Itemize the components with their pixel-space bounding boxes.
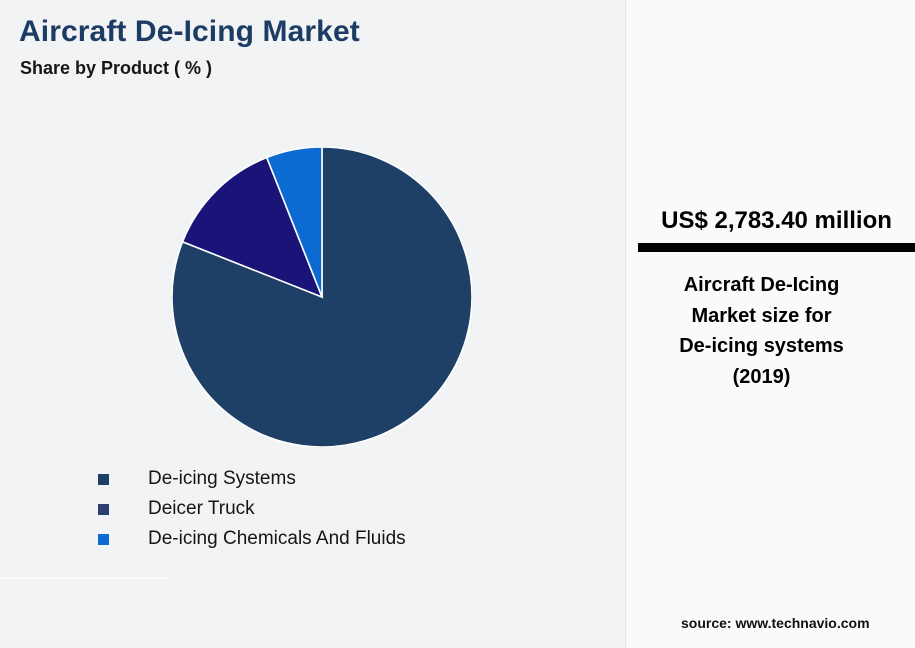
legend-item-de-icing-systems[interactable]: De-icing Systems xyxy=(98,464,578,494)
pie-slice-group xyxy=(172,147,472,447)
chart-subtitle: Share by Product ( % ) xyxy=(20,58,212,79)
metric-underline xyxy=(638,243,915,252)
metric-caption-line: De-icing systems xyxy=(638,331,885,361)
source-attribution: source: www.technavio.com xyxy=(681,615,870,631)
page-title: Aircraft De-Icing Market xyxy=(19,15,360,49)
metric-caption-line: (2019) xyxy=(638,362,885,392)
legend-item-label: De-icing Systems xyxy=(148,468,296,490)
legend-item-label: De-icing Chemicals And Fluids xyxy=(148,528,406,550)
pie-chart xyxy=(172,147,472,447)
pie-chart-svg xyxy=(172,147,472,447)
legend-item-deicer-truck[interactable]: Deicer Truck xyxy=(98,494,578,524)
metric-caption-line: Market size for xyxy=(638,301,885,331)
legend-swatch-icon xyxy=(98,504,109,515)
metric-caption-line: Aircraft De-Icing xyxy=(638,270,885,300)
legend-item-label: Deicer Truck xyxy=(148,498,255,520)
legend-swatch-icon xyxy=(98,534,109,545)
metric-value: US$ 2,783.40 million xyxy=(638,205,915,237)
metric-callout: US$ 2,783.40 million Aircraft De-Icing M… xyxy=(638,205,915,392)
panel-divider xyxy=(625,0,626,648)
metric-caption: Aircraft De-Icing Market size for De-ici… xyxy=(638,270,885,392)
baseline-divider xyxy=(0,577,166,579)
legend-swatch-icon xyxy=(98,474,109,485)
chart-legend: De-icing Systems Deicer Truck De-icing C… xyxy=(98,464,578,554)
infographic-root: Aircraft De-Icing Market Share by Produc… xyxy=(0,0,915,648)
chart-panel: Aircraft De-Icing Market Share by Produc… xyxy=(0,0,626,648)
legend-item-de-icing-chemicals-and-fluids[interactable]: De-icing Chemicals And Fluids xyxy=(98,524,578,554)
